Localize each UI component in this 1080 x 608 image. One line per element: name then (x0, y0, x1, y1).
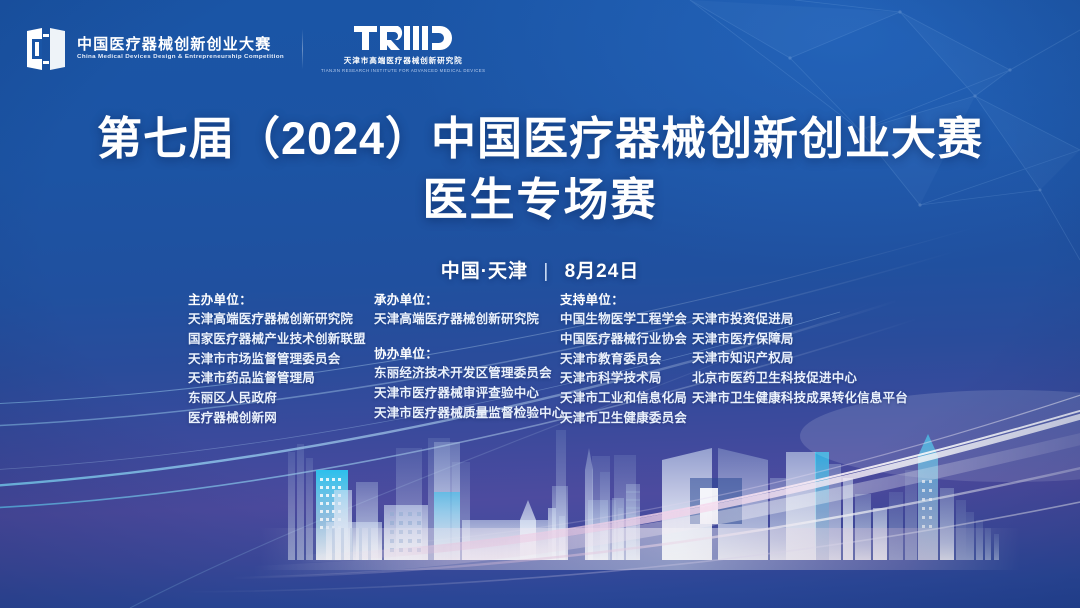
coorganizer-heading: 协办单位： (374, 345, 560, 364)
host-heading: 主办单位： (188, 291, 374, 310)
poster-title: 第七届（2024）中国医疗器械创新创业大赛 医生专场赛 (0, 112, 1080, 226)
event-location: 中国·天津 (441, 261, 528, 282)
trid-wordmark-icon (354, 24, 452, 52)
secondary-logo-en: TIANJIN RESEARCH INSTITUTE FOR ADVANCED … (321, 68, 485, 73)
title-line-2: 医生专场赛 (0, 173, 1080, 226)
supporter-item: 北京市医药卫生科技促进中心 (692, 369, 902, 389)
event-datetime-line: 中国·天津 | 8月24日 (0, 256, 1080, 283)
logo-bar: 中国医疗器械创新创业大赛 China Medical Devices Desig… (24, 24, 485, 73)
organizers-column-supporter-a: 支持单位： 中国生物医学工程学会 中国医疗器械行业协会 天津市教育委员会 天津市… (560, 291, 692, 428)
coorganizer-item: 东丽经济技术开发区管理委员会 (374, 364, 560, 384)
supporter-item: 天津市卫生健康委员会 (560, 409, 692, 429)
supporter-item: 中国生物医学工程学会 (560, 310, 692, 330)
primary-logo-cn: 中国医疗器械创新创业大赛 (77, 36, 284, 53)
supporter-item: 天津市工业和信息化局 (560, 389, 692, 409)
supporter-item: 天津市知识产权局 (692, 349, 902, 369)
primary-logo[interactable]: 中国医疗器械创新创业大赛 China Medical Devices Desig… (24, 28, 284, 70)
event-date: 8月24日 (565, 261, 640, 282)
secondary-logo[interactable]: 天津市高端医疗器械创新研究院 TIANJIN RESEARCH INSTITUT… (321, 24, 485, 73)
supporter-item: 中国医疗器械行业协会 (560, 330, 692, 350)
title-line-1: 第七届（2024）中国医疗器械创新创业大赛 (0, 112, 1080, 165)
coorganizer-item: 天津市医疗器械审评查验中心 (374, 384, 560, 404)
supporter-item: 天津市医疗保障局 (692, 330, 902, 350)
supporter-item: 天津市科学技术局 (560, 369, 692, 389)
column-gap (374, 330, 560, 345)
datetime-separator: | (543, 261, 549, 283)
host-item: 天津高端医疗器械创新研究院 (188, 310, 374, 330)
coorganizer-item: 天津市医疗器械质量监督检验中心 (374, 404, 560, 424)
host-item: 国家医疗器械产业技术创新联盟 (188, 330, 374, 350)
primary-logo-en: China Medical Devices Design & Entrepren… (77, 53, 284, 60)
organizer-item: 天津高端医疗器械创新研究院 (374, 310, 560, 330)
supporter-item: 天津市教育委员会 (560, 350, 692, 370)
secondary-logo-cn: 天津市高端医疗器械创新研究院 (344, 55, 463, 66)
organizers-block: 主办单位： 天津高端医疗器械创新研究院 国家医疗器械产业技术创新联盟 天津市市场… (188, 291, 902, 428)
host-item: 医疗器械创新网 (188, 409, 374, 429)
supporter-item: 天津市卫生健康科技成果转化信息平台 (692, 389, 902, 409)
open-door-logo-icon (24, 28, 68, 70)
supporter-heading: 支持单位： (560, 291, 692, 310)
organizer-heading: 承办单位： (374, 291, 560, 310)
organizers-column-organizer: 承办单位： 天津高端医疗器械创新研究院 协办单位： 东丽经济技术开发区管理委员会… (374, 291, 560, 423)
column-spacer (692, 291, 902, 310)
organizers-column-host: 主办单位： 天津高端医疗器械创新研究院 国家医疗器械产业技术创新联盟 天津市市场… (188, 291, 374, 428)
logo-divider (302, 29, 303, 69)
host-item: 天津市市场监督管理委员会 (188, 350, 374, 370)
organizers-column-supporter-b: 天津市投资促进局 天津市医疗保障局 天津市知识产权局 北京市医药卫生科技促进中心… (692, 291, 902, 408)
host-item: 东丽区人民政府 (188, 389, 374, 409)
host-item: 天津市药品监督管理局 (188, 369, 374, 389)
supporter-item: 天津市投资促进局 (692, 310, 902, 330)
event-poster: 中国医疗器械创新创业大赛 China Medical Devices Desig… (0, 0, 1080, 608)
